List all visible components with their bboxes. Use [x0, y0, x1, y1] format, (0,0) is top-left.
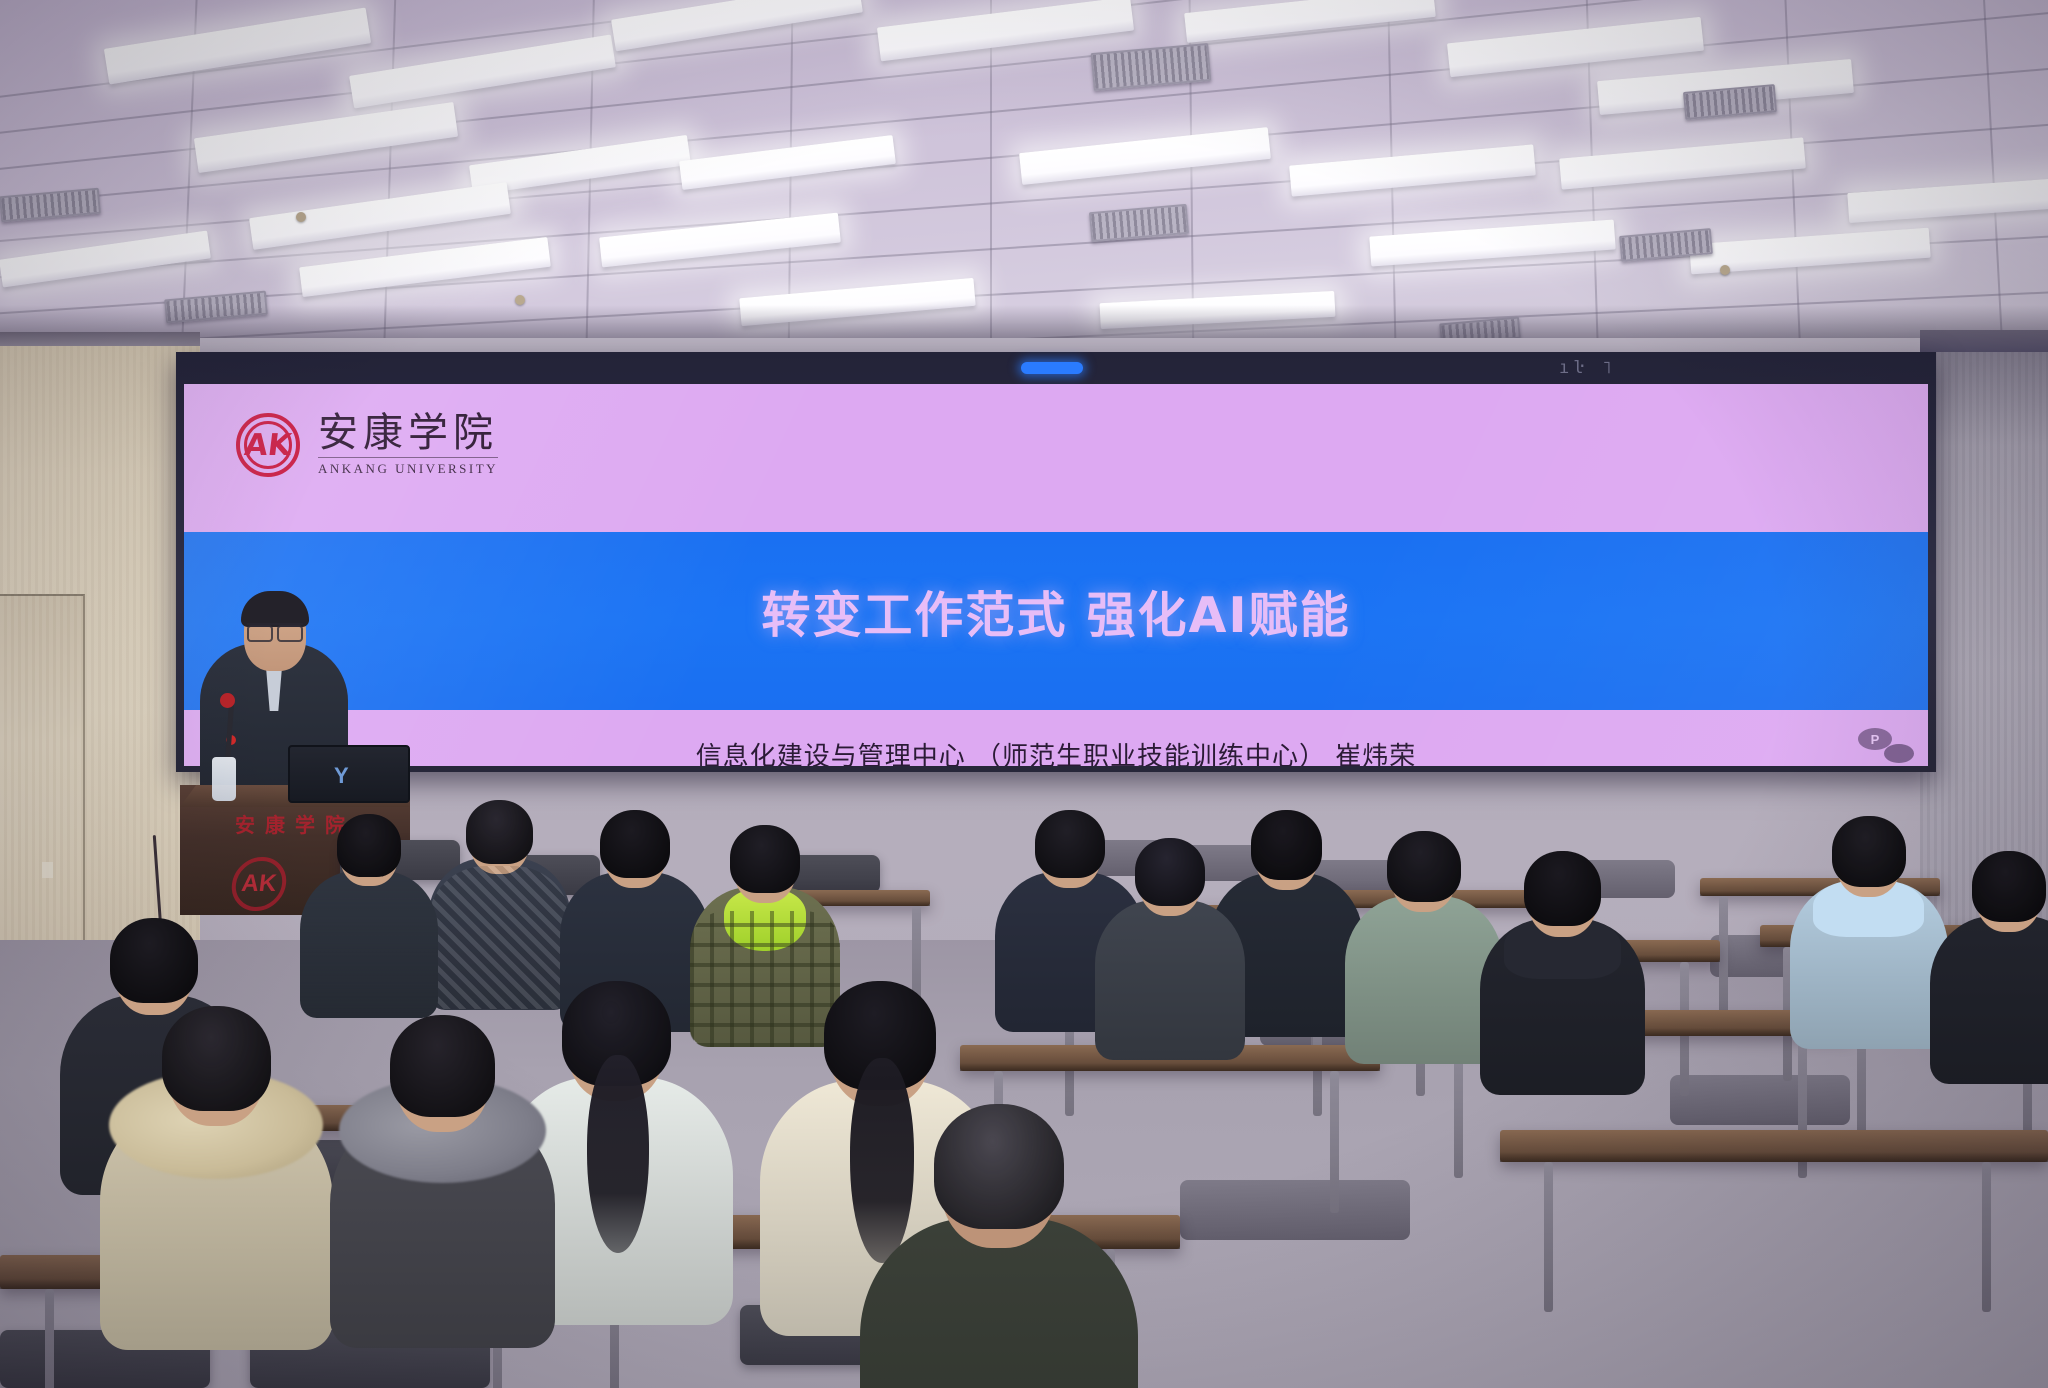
chair[interactable]	[1180, 1180, 1410, 1240]
university-name-en: ANKANG UNIVERSITY	[318, 457, 498, 477]
audience-member	[1790, 805, 1948, 1047]
audience-hair	[466, 800, 533, 865]
university-name-cn: 安康学院	[318, 412, 498, 454]
desk-edge	[1500, 1152, 2048, 1162]
audience-hair	[730, 825, 800, 893]
glasses-icon	[247, 623, 303, 636]
ir-receiver-icon	[1884, 744, 1914, 763]
desk-leg	[1719, 896, 1728, 1022]
audience-member	[100, 990, 333, 1347]
ceiling-tile-line	[383, 0, 398, 345]
microphone-icon	[220, 693, 235, 708]
audience-hair	[1387, 831, 1461, 902]
laptop-logo-icon: Y	[334, 763, 349, 789]
desk-edge	[960, 1063, 1380, 1071]
university-seal-icon: AK	[236, 413, 300, 477]
sprinkler-icon	[296, 212, 306, 222]
audience-member	[300, 805, 438, 1017]
ceiling-tile-line	[0, 0, 3, 345]
seal-glyph: AK	[232, 413, 304, 477]
audience-hair	[162, 1006, 271, 1111]
audience-hair	[390, 1015, 495, 1117]
lecture-hall-photo: ıŀ ˥ AK 安康学院 ANKANG UNIVERSITY	[0, 0, 2048, 1388]
audience-member	[860, 1085, 1138, 1388]
water-bottle[interactable]	[212, 757, 236, 801]
audience-torso	[1095, 900, 1245, 1060]
desk-leg	[45, 1289, 54, 1388]
ceiling-tile-line	[1781, 0, 1801, 345]
ceiling	[0, 0, 2048, 345]
desk-leg	[1330, 1071, 1339, 1213]
audience-member	[1345, 820, 1503, 1062]
audience-member	[330, 1000, 555, 1345]
audience-hair	[934, 1104, 1064, 1230]
audience-ponytail	[587, 1055, 649, 1253]
chair[interactable]	[1670, 1075, 1850, 1125]
lectern-seal-icon: AK	[229, 857, 290, 911]
desk-leg	[1544, 1162, 1553, 1312]
audience-hair	[337, 814, 401, 877]
audience-torso	[1345, 896, 1503, 1064]
right-wall-trim	[1920, 330, 2048, 352]
audience-hair	[1135, 838, 1205, 906]
audience-hair	[600, 810, 670, 878]
door-plate	[42, 862, 53, 878]
audience-member	[1095, 828, 1245, 1058]
audience-hair	[1832, 816, 1906, 887]
sprinkler-icon	[515, 295, 525, 305]
university-logo: AK 安康学院 ANKANG UNIVERSITY	[236, 412, 498, 477]
audience-member	[1930, 840, 2048, 1082]
audience-torso	[1930, 916, 2048, 1084]
ceiling-tile-line	[990, 0, 992, 345]
speaker-hair	[241, 591, 309, 627]
laptop[interactable]: Y	[288, 745, 410, 803]
audience-hair	[1524, 851, 1601, 926]
left-wall-trim	[0, 332, 200, 346]
bezel-marking: ıŀ ˥	[1559, 358, 1616, 378]
desk-leg	[1982, 1162, 1991, 1312]
sprinkler-icon	[1720, 265, 1730, 275]
desk[interactable]	[1500, 1130, 2048, 1162]
power-led-indicator	[1021, 362, 1083, 374]
audience-member	[1480, 840, 1645, 1093]
audience-hair	[1251, 810, 1322, 879]
audience-hair	[1972, 851, 2046, 922]
